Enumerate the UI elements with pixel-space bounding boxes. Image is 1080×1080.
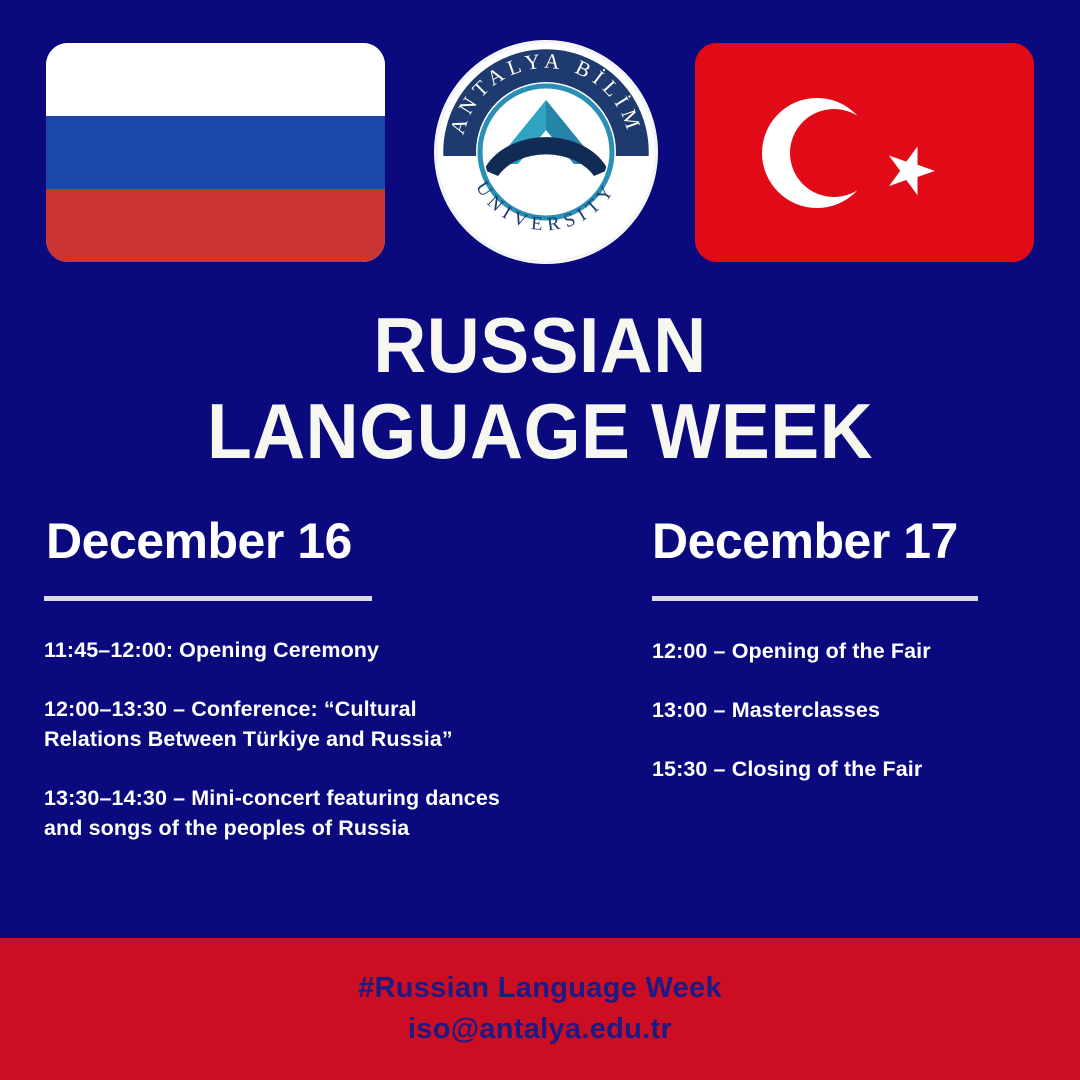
russia-flag-stripe-white: [46, 43, 385, 116]
contact-email[interactable]: iso@antalya.edu.tr: [408, 1009, 672, 1050]
list-item: 15:30 – Closing of the Fair: [652, 754, 1052, 784]
day-heading: December 16: [46, 512, 514, 570]
hashtag-text: #Russian Language Week: [358, 968, 722, 1009]
schedule-column-december-16: December 16 11:45–12:00: Opening Ceremon…: [44, 512, 514, 843]
list-item: 11:45–12:00: Opening Ceremony: [44, 635, 514, 665]
day-heading-rule: [652, 596, 978, 601]
list-item: 12:00–13:30 – Conference: “Cultural Rela…: [44, 694, 514, 754]
russia-flag-icon: [46, 43, 385, 262]
russia-flag-stripe-blue: [46, 116, 385, 189]
russia-flag-stripe-red: [46, 189, 385, 262]
header-band: ANTALYA BİLİM UNIVERSITY: [0, 0, 1080, 300]
event-list: 12:00 – Opening of the Fair 13:00 – Mast…: [652, 636, 1052, 784]
list-item: 12:00 – Opening of the Fair: [652, 636, 1052, 666]
footer-band: #Russian Language Week iso@antalya.edu.t…: [0, 938, 1080, 1080]
day-heading-rule: [44, 596, 372, 601]
schedule: December 16 11:45–12:00: Opening Ceremon…: [0, 512, 1080, 932]
poster-root: ANTALYA BİLİM UNIVERSITY RUSSIAN LANGUAG…: [0, 0, 1080, 1080]
day-heading: December 17: [652, 512, 1052, 570]
list-item: 13:00 – Masterclasses: [652, 695, 1052, 725]
list-item: 13:30–14:30 – Mini-concert featuring dan…: [44, 783, 514, 843]
turkey-flag-icon: [695, 43, 1034, 262]
page-title: RUSSIAN LANGUAGE WEEK: [0, 302, 1080, 474]
schedule-column-december-17: December 17 12:00 – Opening of the Fair …: [652, 512, 1052, 784]
event-list: 11:45–12:00: Opening Ceremony 12:00–13:3…: [44, 635, 514, 843]
title-line-1: RUSSIAN: [32, 302, 1047, 388]
title-line-2: LANGUAGE WEEK: [32, 388, 1047, 474]
antalya-bilim-university-logo-icon: ANTALYA BİLİM UNIVERSITY: [432, 38, 660, 266]
